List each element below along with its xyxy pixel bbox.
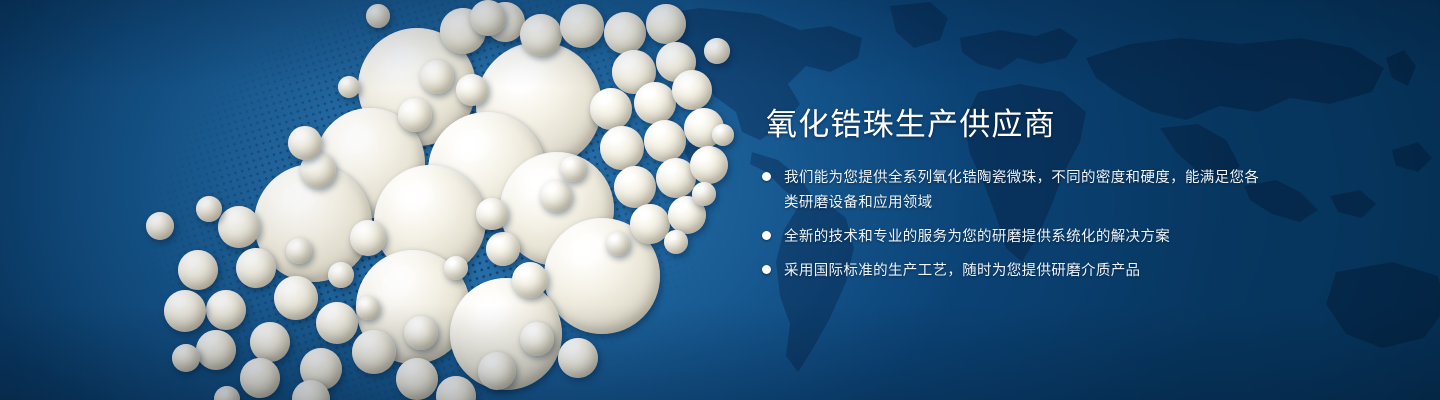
banner-feature-list: 我们能为您提供全系列氧化锆陶瓷微珠，不同的密度和硬度，能满足您各类研磨设备和应用… xyxy=(762,166,1262,284)
bullet-dot-icon xyxy=(762,231,771,240)
banner-copy: 氧化锆珠生产供应商 我们能为您提供全系列氧化锆陶瓷微珠，不同的密度和硬度，能满足… xyxy=(762,104,1262,284)
bullet-dot-icon xyxy=(762,172,771,181)
bullet-dot-icon xyxy=(762,265,771,274)
list-item: 全新的技术和专业的服务为您的研磨提供系统化的解决方案 xyxy=(762,225,1262,250)
banner-headline: 氧化锆珠生产供应商 xyxy=(766,104,1262,146)
bullet-text: 采用国际标准的生产工艺，随时为您提供研磨介质产品 xyxy=(784,259,1140,284)
list-item: 采用国际标准的生产工艺，随时为您提供研磨介质产品 xyxy=(762,259,1262,284)
bullet-text: 我们能为您提供全系列氧化锆陶瓷微珠，不同的密度和硬度，能满足您各类研磨设备和应用… xyxy=(784,166,1262,216)
bullet-text: 全新的技术和专业的服务为您的研磨提供系统化的解决方案 xyxy=(784,225,1170,250)
list-item: 我们能为您提供全系列氧化锆陶瓷微珠，不同的密度和硬度，能满足您各类研磨设备和应用… xyxy=(762,166,1262,216)
hero-banner: 氧化锆珠生产供应商 我们能为您提供全系列氧化锆陶瓷微珠，不同的密度和硬度，能满足… xyxy=(0,0,1440,400)
